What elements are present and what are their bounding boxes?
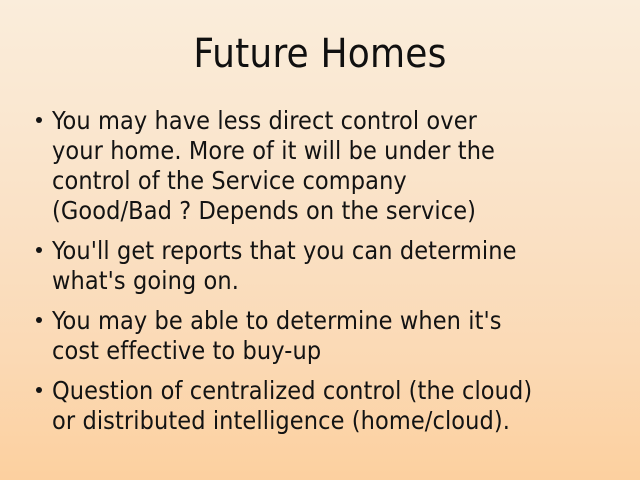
list-item-text: You'll get reports that you can determin… <box>52 236 620 296</box>
page-title: Future Homes <box>0 32 640 76</box>
presentation-slide: Future Homes You may have less direct co… <box>0 0 640 480</box>
list-item: You may have less direct control over yo… <box>30 106 620 226</box>
bullet-dot-icon <box>36 317 42 323</box>
bullet-dot-icon <box>36 247 42 253</box>
bullet-list: You may have less direct control over yo… <box>30 106 620 436</box>
list-item-text: Question of centralized control (the clo… <box>52 376 620 436</box>
bullet-dot-icon <box>36 117 42 123</box>
list-item-text: You may be able to determine when it's c… <box>52 306 620 366</box>
list-item: Question of centralized control (the clo… <box>30 376 620 436</box>
list-item: You may be able to determine when it's c… <box>30 306 620 366</box>
list-item: You'll get reports that you can determin… <box>30 236 620 296</box>
bullet-dot-icon <box>36 387 42 393</box>
list-item-text: You may have less direct control over yo… <box>52 106 620 226</box>
